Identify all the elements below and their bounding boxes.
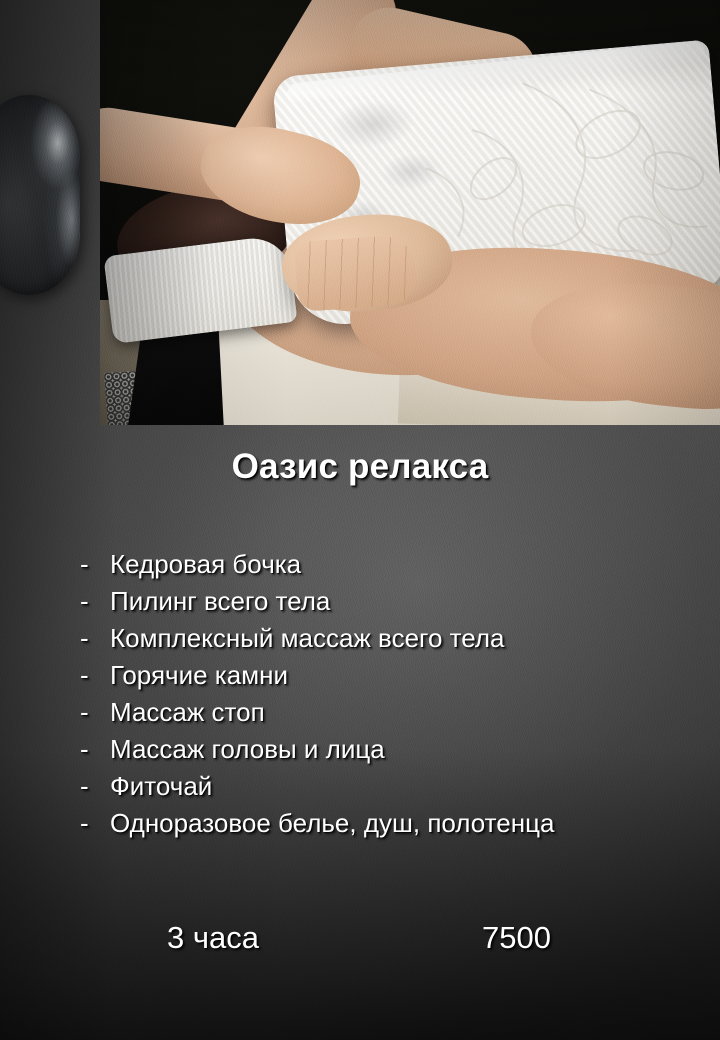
- service-label: Кедровая бочка: [110, 549, 301, 580]
- bullet-dash: -: [80, 771, 110, 802]
- service-label: Одноразовое белье, душ, полотенца: [110, 808, 554, 839]
- list-item: - Массаж головы и лица: [80, 734, 700, 771]
- service-label: Комплексный массаж всего тела: [110, 623, 504, 654]
- list-item: - Комплексный массаж всего тела: [80, 623, 700, 660]
- list-item: - Фиточай: [80, 771, 700, 808]
- bullet-dash: -: [80, 660, 110, 691]
- list-item: - Горячие камни: [80, 660, 700, 697]
- bullet-dash: -: [80, 808, 110, 839]
- list-item: - Пилинг всего тела: [80, 586, 700, 623]
- service-label: Пилинг всего тела: [110, 586, 330, 617]
- page-title: Оазис релакса: [0, 447, 720, 487]
- price-value: 7500: [482, 920, 551, 956]
- bullet-dash: -: [80, 623, 110, 654]
- bullet-dash: -: [80, 586, 110, 617]
- spa-service-slide: Оазис релакса - Кедровая бочка - Пилинг …: [0, 0, 720, 1040]
- service-label: Массаж головы и лица: [110, 734, 385, 765]
- massage-photo: [100, 0, 720, 425]
- bullet-dash: -: [80, 549, 110, 580]
- service-label: Массаж стоп: [110, 697, 265, 728]
- list-item: - Одноразовое белье, душ, полотенца: [80, 808, 700, 845]
- service-label: Горячие камни: [110, 660, 288, 691]
- bullet-dash: -: [80, 734, 110, 765]
- duration-value: 3 часа: [167, 920, 259, 956]
- spa-stone-icon: [0, 95, 80, 295]
- service-label: Фиточай: [110, 771, 212, 802]
- photo-shading-overlay: [100, 0, 720, 425]
- pricing-footer: 3 часа 7500: [0, 920, 720, 966]
- bullet-dash: -: [80, 697, 110, 728]
- list-item: - Кедровая бочка: [80, 549, 700, 586]
- list-item: - Массаж стоп: [80, 697, 700, 734]
- service-list: - Кедровая бочка - Пилинг всего тела - К…: [80, 549, 700, 845]
